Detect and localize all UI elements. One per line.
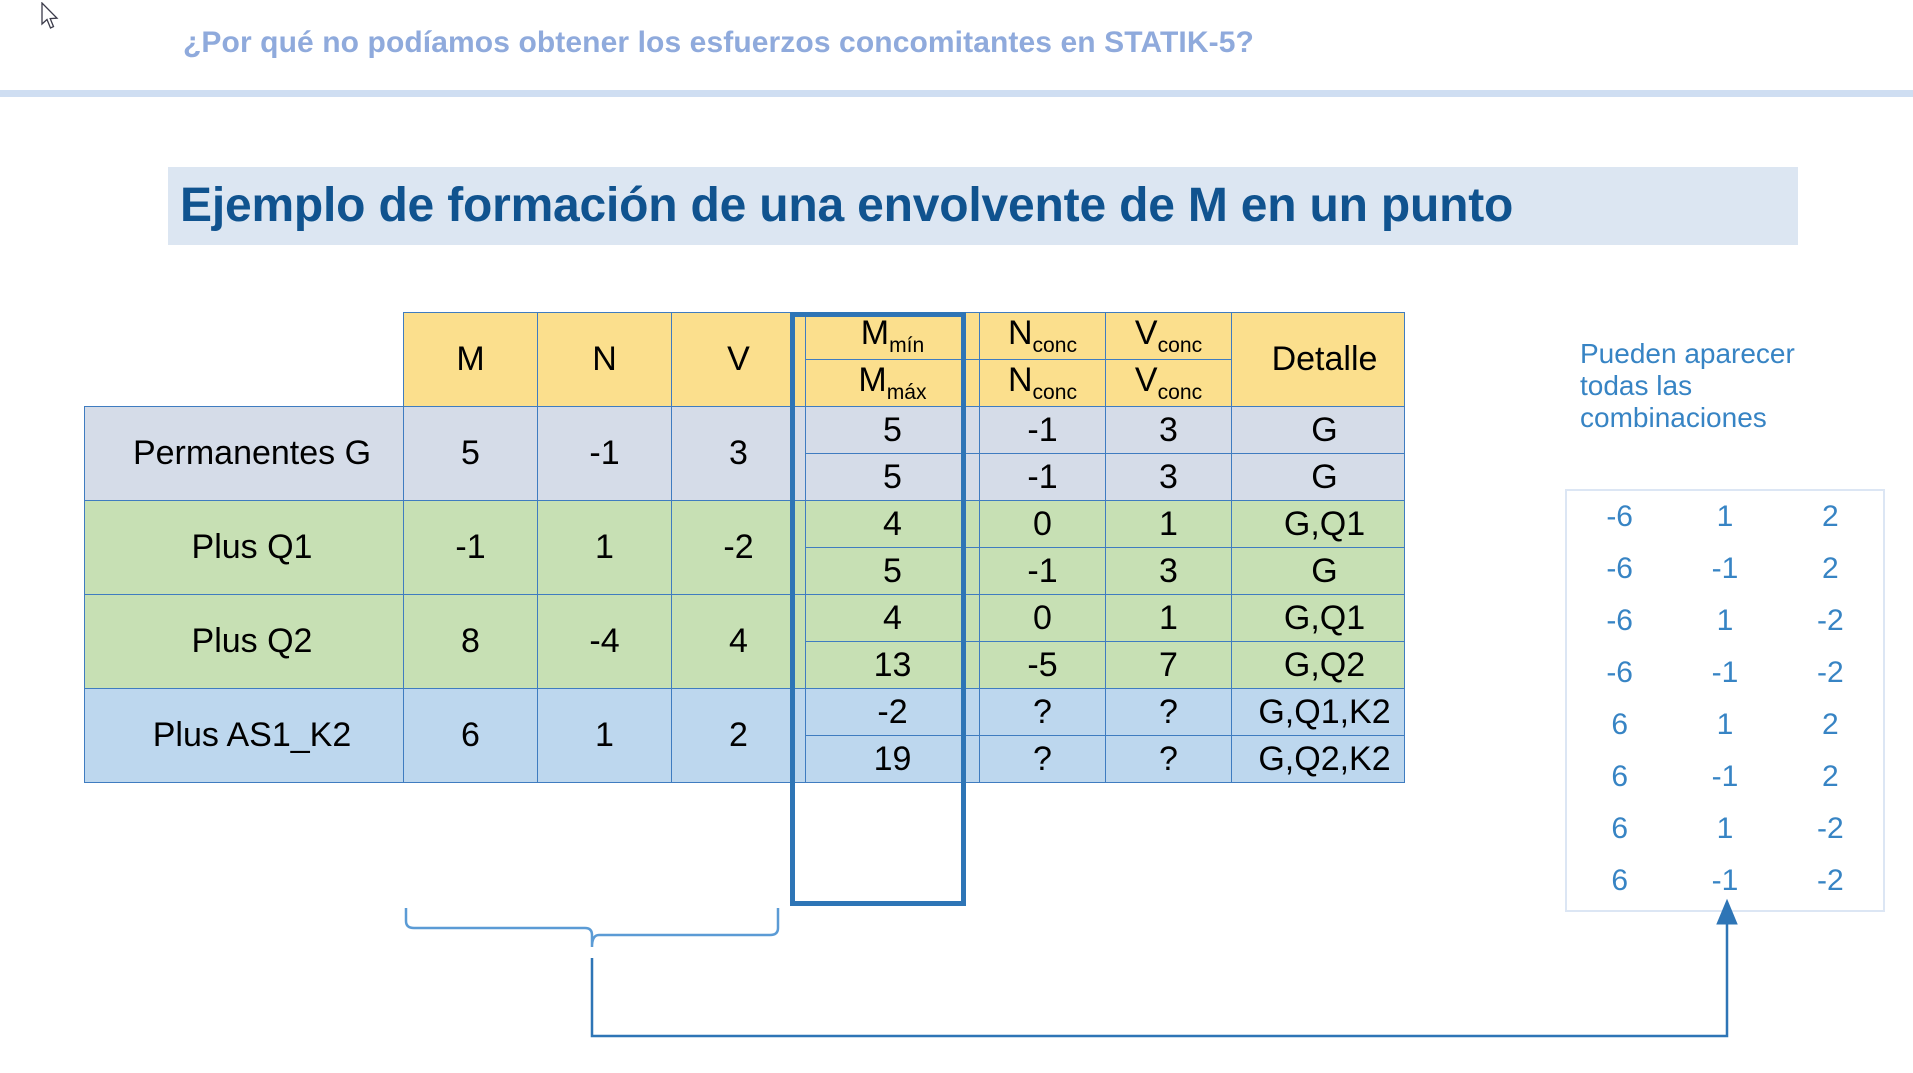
elbow-connector-line — [592, 918, 1727, 1036]
combination-value: -6 — [1567, 491, 1672, 543]
combination-row: 612 — [1567, 699, 1883, 751]
cell-m-env-3-1: 19 — [806, 736, 980, 783]
cell-v-conc-2-1: 7 — [1106, 642, 1232, 689]
slide-header: ¿Por qué no podíamos obtener los esfuerz… — [0, 0, 1913, 90]
cell-n-conc-3-0: ? — [980, 689, 1106, 736]
header-cell-v: V — [672, 313, 806, 407]
combination-row: -612 — [1567, 491, 1883, 543]
header-cell-detalle: Detalle — [1232, 313, 1405, 407]
header-cell-m: M — [404, 313, 538, 407]
header-divider-rule — [0, 90, 1913, 97]
header-cell-v-conc-bottom: Vconc — [1106, 360, 1232, 407]
combination-value: -2 — [1778, 647, 1883, 699]
combination-value: -2 — [1778, 595, 1883, 647]
cell-m-env-2-1: 13 — [806, 642, 980, 689]
row-n-0: -1 — [538, 407, 672, 501]
row-v-0: 3 — [672, 407, 806, 501]
combination-row: -6-1-2 — [1567, 647, 1883, 699]
cell-n-conc-0-0: -1 — [980, 407, 1106, 454]
cell-v-conc-1-1: 3 — [1106, 548, 1232, 595]
row-label-3: Plus AS1_K2 — [85, 689, 404, 783]
table-header-row-top: M N V Mmín Nconc Vconc Detalle — [85, 313, 1405, 360]
cell-n-conc-1-0: 0 — [980, 501, 1106, 548]
combination-value: 2 — [1778, 491, 1883, 543]
cell-v-conc-0-0: 3 — [1106, 407, 1232, 454]
table-row: Permanentes G5-135-13G — [85, 407, 1405, 454]
combination-row: 61-2 — [1567, 803, 1883, 855]
header-question-text: ¿Por qué no podíamos obtener los esfuerz… — [183, 26, 1254, 60]
cell-m-env-1-0: 4 — [806, 501, 980, 548]
table-header: M N V Mmín Nconc Vconc Detalle Mmáx Ncon… — [85, 313, 1405, 407]
combination-value: -1 — [1672, 647, 1777, 699]
cell-m-env-2-0: 4 — [806, 595, 980, 642]
cell-m-env-0-1: 5 — [806, 454, 980, 501]
combination-value: 6 — [1567, 751, 1672, 803]
combination-value: 1 — [1672, 803, 1777, 855]
row-n-1: 1 — [538, 501, 672, 595]
cell-v-conc-3-1: ? — [1106, 736, 1232, 783]
table-row: Plus Q1-11-2401G,Q1 — [85, 501, 1405, 548]
combination-value: -1 — [1672, 855, 1777, 907]
cell-detalle-2-0: G,Q1 — [1232, 595, 1405, 642]
cell-n-conc-2-0: 0 — [980, 595, 1106, 642]
header-cell-n: N — [538, 313, 672, 407]
cell-n-conc-1-1: -1 — [980, 548, 1106, 595]
header-n-conc-base-top: N — [1008, 314, 1033, 352]
combinations-note: Pueden aparecer todas las combinaciones — [1580, 338, 1840, 434]
combination-row: -6-12 — [1567, 543, 1883, 595]
cell-detalle-1-1: G — [1232, 548, 1405, 595]
combination-row: -61-2 — [1567, 595, 1883, 647]
combination-value: -1 — [1672, 751, 1777, 803]
combination-value: 1 — [1672, 595, 1777, 647]
cursor-arrow-shape — [42, 3, 57, 28]
cell-v-conc-2-0: 1 — [1106, 595, 1232, 642]
table-body: Permanentes G5-135-13G5-13GPlus Q1-11-24… — [85, 407, 1405, 783]
mouse-pointer-icon — [40, 2, 62, 32]
cell-detalle-3-1: G,Q2,K2 — [1232, 736, 1405, 783]
header-m-min-sub: mín — [889, 334, 924, 357]
header-empty-corner — [85, 313, 404, 407]
row-m-1: -1 — [404, 501, 538, 595]
row-label-2: Plus Q2 — [85, 595, 404, 689]
row-m-3: 6 — [404, 689, 538, 783]
row-v-3: 2 — [672, 689, 806, 783]
cell-m-env-3-0: -2 — [806, 689, 980, 736]
cell-m-env-1-1: 5 — [806, 548, 980, 595]
cell-detalle-3-0: G,Q1,K2 — [1232, 689, 1405, 736]
cell-detalle-2-1: G,Q2 — [1232, 642, 1405, 689]
header-cell-m-min: Mmín — [806, 313, 980, 360]
combination-value: -6 — [1567, 595, 1672, 647]
combination-value: 2 — [1778, 543, 1883, 595]
row-m-0: 5 — [404, 407, 538, 501]
combinations-table: -612-6-12-61-2-6-1-26126-1261-26-1-2 — [1567, 491, 1883, 907]
header-n-conc-sub-bottom: conc — [1033, 381, 1078, 404]
cell-v-conc-1-0: 1 — [1106, 501, 1232, 548]
combination-value: 1 — [1672, 699, 1777, 751]
page-title: Ejemplo de formación de una envolvente d… — [180, 178, 1513, 233]
combinations-box: -612-6-12-61-2-6-1-26126-1261-26-1-2 — [1565, 489, 1885, 912]
header-m-min-base: M — [861, 314, 889, 352]
cell-n-conc-0-1: -1 — [980, 454, 1106, 501]
combinations-body: -612-6-12-61-2-6-1-26126-1261-26-1-2 — [1567, 491, 1883, 907]
cell-m-env-0-0: 5 — [806, 407, 980, 454]
header-v-conc-sub-bottom: conc — [1158, 381, 1203, 404]
table-row: Plus AS1_K2612-2??G,Q1,K2 — [85, 689, 1405, 736]
combination-row: 6-12 — [1567, 751, 1883, 803]
row-v-1: -2 — [672, 501, 806, 595]
row-n-2: -4 — [538, 595, 672, 689]
combination-value: -6 — [1567, 647, 1672, 699]
combination-value: 6 — [1567, 803, 1672, 855]
combination-value: 2 — [1778, 751, 1883, 803]
combination-value: 2 — [1778, 699, 1883, 751]
cell-detalle-1-0: G,Q1 — [1232, 501, 1405, 548]
header-n-conc-sub-top: conc — [1033, 334, 1078, 357]
combination-value: -6 — [1567, 543, 1672, 595]
cell-n-conc-2-1: -5 — [980, 642, 1106, 689]
row-v-2: 4 — [672, 595, 806, 689]
header-cell-v-conc-top: Vconc — [1106, 313, 1232, 360]
header-v-conc-base-top: V — [1135, 314, 1158, 352]
combination-value: 6 — [1567, 699, 1672, 751]
row-m-2: 8 — [404, 595, 538, 689]
header-m-max-base: M — [858, 361, 886, 399]
header-cell-m-max: Mmáx — [806, 360, 980, 407]
header-v-conc-sub-top: conc — [1158, 334, 1203, 357]
header-v-conc-base-bottom: V — [1135, 361, 1158, 399]
header-cell-n-conc-bottom: Nconc — [980, 360, 1106, 407]
cell-v-conc-3-0: ? — [1106, 689, 1232, 736]
combination-value: -2 — [1778, 803, 1883, 855]
combination-value: 1 — [1672, 491, 1777, 543]
combination-value: -2 — [1778, 855, 1883, 907]
header-n-conc-base-bottom: N — [1008, 361, 1033, 399]
cell-detalle-0-1: G — [1232, 454, 1405, 501]
header-m-max-sub: máx — [887, 381, 927, 404]
combination-value: 6 — [1567, 855, 1672, 907]
cell-n-conc-3-1: ? — [980, 736, 1106, 783]
combination-value: -1 — [1672, 543, 1777, 595]
cell-v-conc-0-1: 3 — [1106, 454, 1232, 501]
combination-row: 6-1-2 — [1567, 855, 1883, 907]
cell-detalle-0-0: G — [1232, 407, 1405, 454]
row-label-1: Plus Q1 — [85, 501, 404, 595]
brace-under-mnv — [406, 908, 778, 947]
row-label-0: Permanentes G — [85, 407, 404, 501]
table-row: Plus Q28-44401G,Q1 — [85, 595, 1405, 642]
envelope-table: M N V Mmín Nconc Vconc Detalle Mmáx Ncon… — [84, 312, 1405, 783]
header-cell-n-conc-top: Nconc — [980, 313, 1106, 360]
row-n-3: 1 — [538, 689, 672, 783]
